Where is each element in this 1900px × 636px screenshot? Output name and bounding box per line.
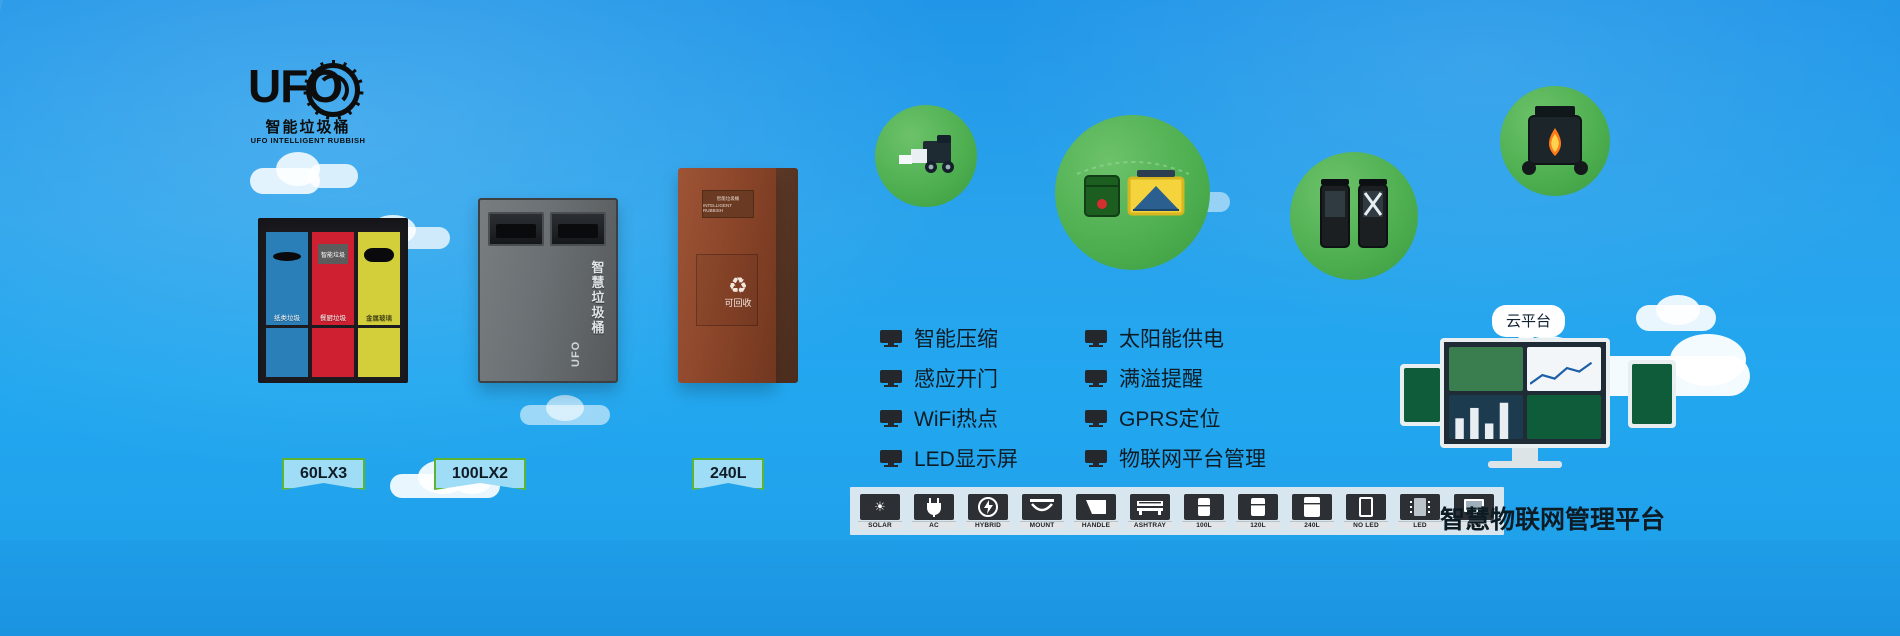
option-label: 100L bbox=[1182, 521, 1226, 529]
monitor-stand bbox=[1512, 448, 1538, 462]
logo-chinese-name: 智能垃圾桶 bbox=[248, 116, 368, 137]
bottle-slot-icon bbox=[364, 248, 394, 262]
feature-circle-fill-level bbox=[1290, 152, 1418, 280]
compartment-lower bbox=[312, 328, 354, 377]
tablet-right bbox=[1628, 360, 1676, 428]
feature-label: 满溢提醒 bbox=[1119, 363, 1203, 393]
bin-bay bbox=[550, 212, 606, 246]
feature-item: 太阳能供电 bbox=[1085, 318, 1266, 358]
compartment-lower bbox=[266, 328, 308, 377]
hybrid-bolt-icon bbox=[968, 494, 1008, 520]
bottom-band bbox=[0, 540, 1900, 636]
recycle-marking: ♻ 可回收 bbox=[724, 276, 751, 309]
two-bin-sensor-icon bbox=[1311, 173, 1397, 259]
bin-compartment: 纸类垃圾 bbox=[266, 232, 308, 377]
blank-panel-icon bbox=[1346, 494, 1386, 520]
power-plug-icon bbox=[914, 494, 954, 520]
display-line-1: 智能垃圾桶 bbox=[717, 196, 740, 202]
monitor-icon bbox=[880, 370, 902, 387]
compartment-upper: 智能垃圾 餐厨垃圾 bbox=[312, 232, 354, 325]
option-label: MOUNT bbox=[1020, 521, 1064, 529]
option-hybrid[interactable]: HYBRID bbox=[964, 494, 1012, 529]
compactor-truck-icon bbox=[893, 133, 959, 179]
dashboard-chart-pane bbox=[1527, 347, 1601, 391]
desktop-monitor bbox=[1440, 338, 1610, 448]
logo-english-name: UFO INTELLIGENT RUBBISH bbox=[248, 136, 368, 145]
monitor-icon bbox=[1085, 370, 1107, 387]
option-label: SOLAR bbox=[858, 521, 902, 529]
option-label: ASHTRAY bbox=[1128, 521, 1172, 529]
sun-icon: ☀ bbox=[860, 494, 900, 520]
feature-label: 太阳能供电 bbox=[1119, 323, 1224, 353]
monitor-base bbox=[1488, 461, 1562, 468]
feature-item: WiFi热点 bbox=[880, 398, 1018, 438]
feature-circle-solar bbox=[1055, 115, 1210, 270]
bin-120l-icon bbox=[1238, 494, 1278, 520]
display-line-2: INTELLIGENT RUBBISH bbox=[703, 203, 753, 213]
option-label: HYBRID bbox=[966, 521, 1010, 529]
tablet-left-screen bbox=[1404, 368, 1440, 422]
compartment-upper: 金属玻璃 bbox=[358, 232, 400, 325]
compartment-label: 餐厨垃圾 bbox=[320, 312, 346, 325]
deposit-slot-icon bbox=[558, 224, 598, 238]
feature-item: LED显示屏 bbox=[880, 438, 1018, 478]
ashtray-icon bbox=[1130, 494, 1170, 520]
option-label: 120L bbox=[1236, 521, 1280, 529]
feature-circle-fire-alarm bbox=[1500, 86, 1610, 196]
product-bin-brown: 智能垃圾桶 INTELLIGENT RUBBISH ♻ 可回收 bbox=[678, 168, 798, 383]
monitor-icon bbox=[880, 450, 902, 467]
feature-item: GPRS定位 bbox=[1085, 398, 1266, 438]
monitor-icon bbox=[880, 410, 902, 427]
banner-canvas: UFO 智能垃圾桶 UFO INTELLIGENT RUBBISH bbox=[0, 0, 1900, 636]
feature-label: 物联网平台管理 bbox=[1119, 443, 1266, 473]
option-240l[interactable]: 240L bbox=[1288, 494, 1336, 529]
iot-platform-illustration bbox=[1400, 330, 1700, 460]
option-mount[interactable]: MOUNT bbox=[1018, 494, 1066, 529]
option-label: NO LED bbox=[1344, 521, 1388, 529]
monitor-icon bbox=[1085, 410, 1107, 427]
bin-display-panel: 智能垃圾桶 INTELLIGENT RUBBISH bbox=[702, 190, 754, 218]
oval-slot-icon bbox=[273, 252, 301, 261]
capacity-badge-100lx2: 100LX2 bbox=[434, 458, 526, 490]
line-chart-icon bbox=[1530, 361, 1592, 387]
feature-column-left: 智能压缩 感应开门 WiFi热点 LED显示屏 bbox=[880, 318, 1018, 478]
feature-label: WiFi热点 bbox=[914, 403, 998, 433]
product-bin-gray-double: 智慧垃圾桶 UFO bbox=[478, 198, 618, 383]
compartment-upper: 纸类垃圾 bbox=[266, 232, 308, 325]
capacity-badge-60lx3: 60LX3 bbox=[282, 458, 365, 490]
bin-bay bbox=[488, 212, 544, 246]
monitor-icon bbox=[1085, 450, 1107, 467]
feature-column-right: 太阳能供电 满溢提醒 GPRS定位 物联网平台管理 bbox=[1085, 318, 1266, 478]
gear-teeth-icon bbox=[306, 63, 360, 117]
option-solar[interactable]: ☀ SOLAR bbox=[856, 494, 904, 529]
bin-240l-icon bbox=[1292, 494, 1332, 520]
feature-item: 感应开门 bbox=[880, 358, 1018, 398]
brand-logo: UFO 智能垃圾桶 UFO INTELLIGENT RUBBISH bbox=[248, 62, 368, 154]
fire-alarm-bin-icon bbox=[1517, 102, 1593, 180]
capacity-badge-240l: 240L bbox=[692, 458, 764, 490]
monitor-icon bbox=[880, 330, 902, 347]
option-no-led[interactable]: NO LED bbox=[1342, 494, 1390, 529]
option-label: LED bbox=[1398, 521, 1442, 529]
option-ashtray[interactable]: ASHTRAY bbox=[1126, 494, 1174, 529]
dashboard-bars-pane bbox=[1449, 395, 1523, 439]
option-icon-strip: ☀ SOLAR AC HYBRID MOUNT HANDLE bbox=[850, 487, 1504, 535]
dashboard-status-pane bbox=[1527, 395, 1601, 439]
feature-label: 感应开门 bbox=[914, 363, 998, 393]
bar-chart-icon bbox=[1449, 395, 1523, 439]
product-bin-3-color: 纸类垃圾 智能垃圾 餐厨垃圾 金属玻璃 bbox=[258, 218, 408, 383]
recycle-icon: ♻ bbox=[724, 276, 751, 296]
bin-compartment: 金属玻璃 bbox=[358, 232, 400, 377]
monitor-icon bbox=[1085, 330, 1107, 347]
option-led[interactable]: LED bbox=[1396, 494, 1444, 529]
solar-panel-bin-icon bbox=[1071, 152, 1195, 234]
compartment-lower bbox=[358, 328, 400, 377]
feature-label: 智能压缩 bbox=[914, 323, 998, 353]
bin-brand-text: UFO bbox=[570, 341, 582, 367]
feature-label: LED显示屏 bbox=[914, 443, 1018, 473]
plate-icon: 智能垃圾 bbox=[318, 244, 348, 264]
feature-label: GPRS定位 bbox=[1119, 403, 1221, 433]
compartment-label: 纸类垃圾 bbox=[274, 312, 300, 325]
handle-icon bbox=[1076, 494, 1116, 520]
option-120l[interactable]: 120L bbox=[1234, 494, 1282, 529]
option-handle[interactable]: HANDLE bbox=[1072, 494, 1120, 529]
tablet-right-screen bbox=[1632, 364, 1672, 424]
tablet-left bbox=[1400, 364, 1444, 426]
option-label: HANDLE bbox=[1074, 521, 1118, 529]
option-label: 240L bbox=[1290, 521, 1334, 529]
option-100l[interactable]: 100L bbox=[1180, 494, 1228, 529]
recycle-label: 可回收 bbox=[724, 296, 751, 309]
feature-item: 满溢提醒 bbox=[1085, 358, 1266, 398]
bin-vertical-text: 智慧垃圾桶 bbox=[590, 260, 606, 335]
feature-item: 物联网平台管理 bbox=[1085, 438, 1266, 478]
dashboard-map-pane bbox=[1449, 347, 1523, 391]
feature-item: 智能压缩 bbox=[880, 318, 1018, 358]
option-ac[interactable]: AC bbox=[910, 494, 958, 529]
bin-100l-icon bbox=[1184, 494, 1224, 520]
deposit-slot-icon bbox=[496, 224, 536, 238]
bin-compartment: 智能垃圾 餐厨垃圾 bbox=[312, 232, 354, 377]
platform-title: 智慧物联网管理平台 bbox=[1440, 500, 1665, 536]
wall-mount-icon bbox=[1022, 494, 1062, 520]
feature-circle-compaction bbox=[875, 105, 977, 207]
led-panel-icon bbox=[1400, 494, 1440, 520]
compartment-label: 金属玻璃 bbox=[366, 312, 392, 325]
option-label: AC bbox=[912, 521, 956, 529]
